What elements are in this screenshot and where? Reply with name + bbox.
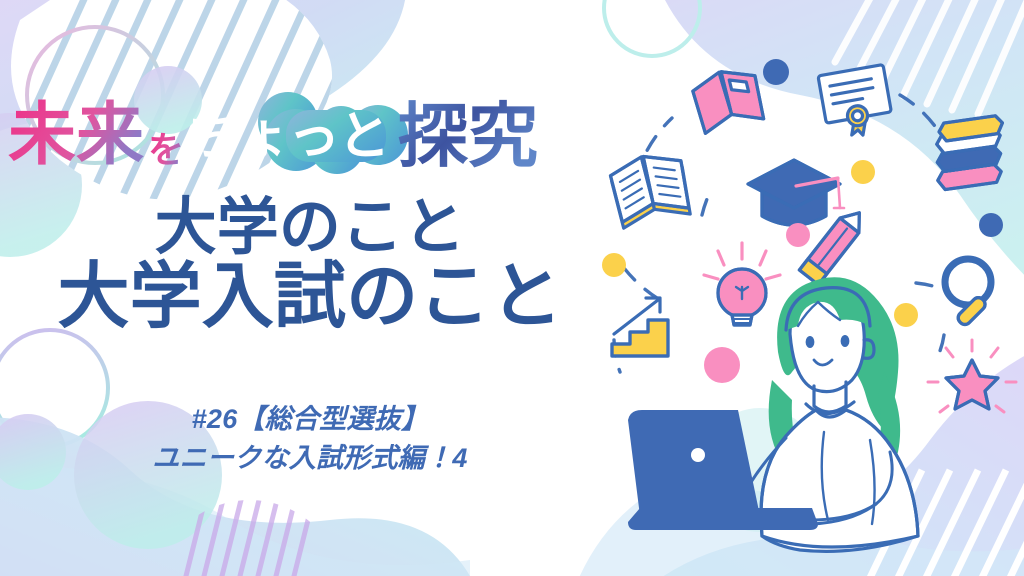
stairs-growth-icon [612, 298, 668, 356]
lightbulb-icon [704, 243, 780, 325]
open-book-pink-icon [690, 64, 766, 134]
open-book-white-icon [608, 149, 692, 229]
magnifier-icon [945, 259, 991, 327]
illustration-layer [0, 0, 1024, 576]
banner-canvas: 未来 を ちょっと 探究 大学のこと 大学入試のこと #26【総合型選抜】 ユニ… [0, 0, 1024, 576]
dot-yellow-left [602, 253, 626, 277]
graduation-cap-icon [748, 160, 844, 225]
dot-blue-right [979, 213, 1003, 237]
dot-blue-top [763, 59, 789, 85]
dot-yellow-low [894, 303, 918, 327]
dot-yellow-mid [851, 160, 875, 184]
dot-pink-mid [786, 223, 810, 247]
certificate-icon [818, 65, 894, 141]
dot-pink-low [704, 347, 740, 383]
stacked-books-icon [930, 115, 1010, 190]
